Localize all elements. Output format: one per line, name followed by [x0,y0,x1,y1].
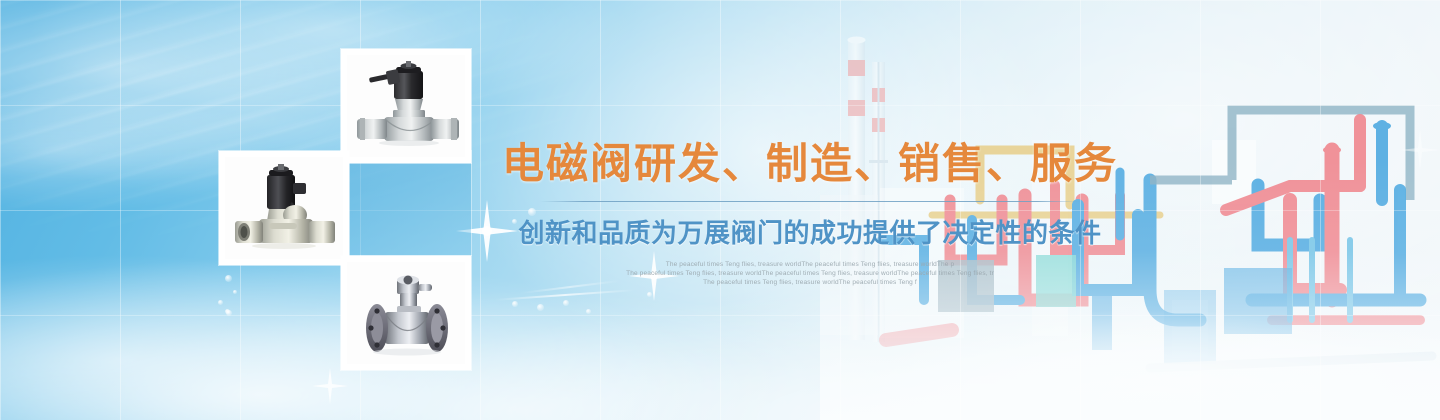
bokeh-dot [225,309,230,314]
product-tile-3[interactable] [341,256,471,370]
overhead-bridge [1150,110,1410,200]
divider [540,201,1080,202]
mosaic-blue-tile [341,151,471,255]
bokeh-dot [586,309,591,314]
bokeh-dot [226,310,232,316]
bokeh-dot [512,301,518,307]
sparkle-icon [310,366,350,406]
sparkle-icon [1398,128,1440,172]
pipe-rack-right [1150,120,1432,368]
bokeh-dot [563,300,569,306]
page-subtitle: 创新和品质为万展阀门的成功提供了决定性的条件 [500,213,1120,250]
microcopy-line-2: The peaceful times Teng flies, treasure … [500,269,1120,278]
microcopy-line-3: The peaceful times Teng flies, treasure … [500,278,1120,287]
product-image-solenoid-valve-stainless-inline [347,55,465,157]
bokeh-dot [225,275,232,282]
microcopy-line-1: The peaceful times Teng flies, treasure … [500,260,1120,269]
bokeh-dot [233,290,237,294]
product-tile-2[interactable] [219,151,349,265]
bokeh-dot [647,292,652,297]
light-streak [495,289,635,301]
product-image-solenoid-valve-flanged [347,262,465,364]
hero-copy: 电磁阀研发、制造、销售、服务 创新和品质为万展阀门的成功提供了决定性的条件 Th… [500,140,1120,287]
hero-banner: 电磁阀研发、制造、销售、服务 创新和品质为万展阀门的成功提供了决定性的条件 Th… [0,0,1440,420]
page-title: 电磁阀研发、制造、销售、服务 [500,140,1120,187]
product-tile-1[interactable] [341,49,471,163]
product-image-solenoid-valve-brass-threaded [225,157,343,259]
microcopy-block: The peaceful times Teng flies, treasure … [500,260,1120,287]
bokeh-dot [218,300,223,305]
bokeh-dot [537,304,544,311]
